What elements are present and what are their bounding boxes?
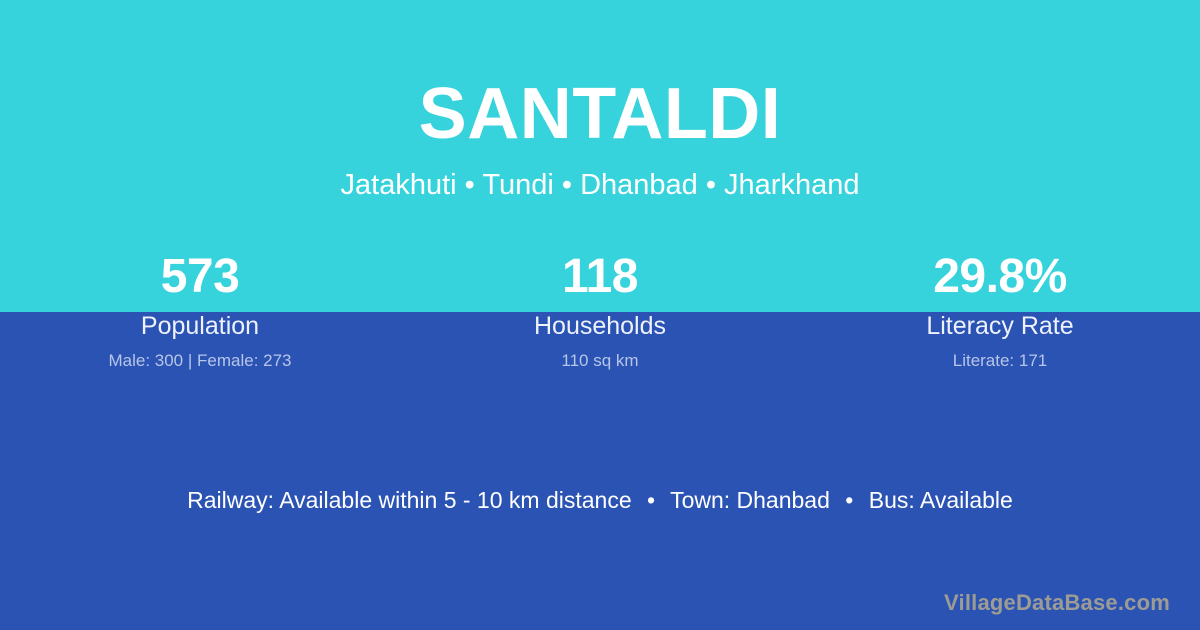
village-info-card: SANTALDI Jatakhuti • Tundi • Dhanbad • J…	[0, 0, 1200, 630]
stats-row: 573 Population Male: 300 | Female: 273 1…	[0, 248, 1200, 371]
facility-bus: Bus: Available	[869, 487, 1013, 513]
stat-households-value: 118	[400, 248, 800, 306]
facility-separator-2: •	[836, 486, 862, 514]
stat-literacy-value: 29.8%	[800, 248, 1200, 306]
stat-literacy-label: Literacy Rate	[800, 312, 1200, 340]
stat-population: 573 Population Male: 300 | Female: 273	[0, 248, 400, 371]
facility-railway: Railway: Available within 5 - 10 km dist…	[187, 487, 631, 513]
stat-literacy-detail: Literate: 171	[800, 351, 1200, 371]
site-watermark: VillageDataBase.com	[944, 590, 1170, 616]
facility-separator-1: •	[638, 486, 664, 514]
stat-households: 118 Households 110 sq km	[400, 248, 800, 371]
stat-literacy: 29.8% Literacy Rate Literate: 171	[800, 248, 1200, 371]
header-block: SANTALDI Jatakhuti • Tundi • Dhanbad • J…	[0, 78, 1200, 202]
stat-population-label: Population	[0, 312, 400, 340]
facilities-line: Railway: Available within 5 - 10 km dist…	[0, 486, 1200, 514]
facility-town: Town: Dhanbad	[670, 487, 830, 513]
stat-population-detail: Male: 300 | Female: 273	[0, 351, 400, 371]
stat-population-value: 573	[0, 248, 400, 306]
breadcrumb: Jatakhuti • Tundi • Dhanbad • Jharkhand	[0, 170, 1200, 202]
stat-households-label: Households	[400, 312, 800, 340]
page-title: SANTALDI	[0, 78, 1200, 150]
stat-households-detail: 110 sq km	[400, 351, 800, 371]
